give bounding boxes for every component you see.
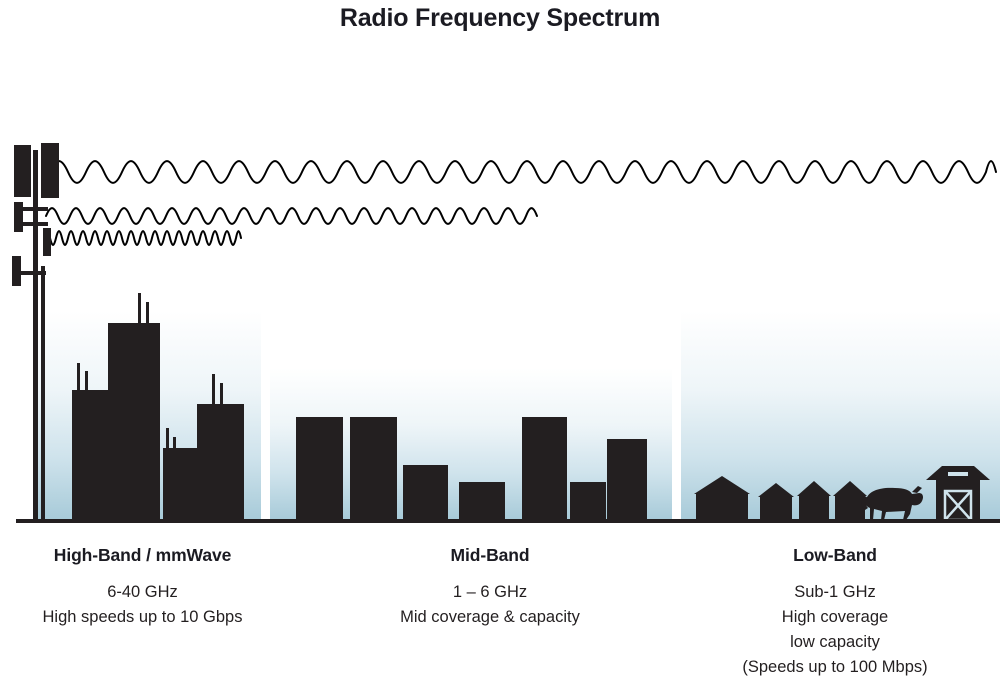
mid-building-1 — [296, 417, 343, 519]
band-detail-high-1: High speeds up to 10 Gbps — [0, 605, 285, 630]
barn-hayloft-window — [948, 472, 968, 476]
band-caption-mid: Mid-Band 1 – 6 GHz Mid coverage & capaci… — [340, 545, 640, 630]
radio-waves — [44, 161, 996, 245]
band-name-low: Low-Band — [690, 545, 980, 566]
tower-building-4-spire-0 — [212, 374, 215, 408]
tower-building-2 — [108, 293, 160, 519]
antenna-panel-mid-right — [43, 228, 51, 256]
barn-body — [936, 478, 980, 520]
wave-short-high-frequency — [44, 231, 241, 245]
band-detail-low-0: Sub-1 GHz — [690, 580, 980, 605]
mid-building-5 — [522, 417, 567, 519]
tower-mast-main — [33, 150, 38, 522]
mid-building-3 — [403, 465, 448, 519]
band-caption-high: High-Band / mmWave 6-40 GHz High speeds … — [0, 545, 285, 630]
mid-building-7 — [607, 439, 647, 519]
infographic-page: Radio Frequency Spectrum High-Band / mmW… — [0, 0, 1000, 700]
house-2-body — [760, 497, 792, 519]
band-detail-low-2: low capacity — [690, 630, 980, 655]
mid-building-4 — [459, 482, 505, 519]
antenna-panel-top-right — [41, 143, 59, 198]
house-4-body — [835, 496, 865, 519]
ground-baseline — [16, 519, 1000, 523]
antenna-panel-top-left — [14, 145, 31, 197]
band-detail-low-3: (Speeds up to 100 Mbps) — [690, 655, 980, 680]
tower-mast-second — [41, 266, 45, 522]
tower-building-1-spire-0 — [77, 363, 80, 394]
tower-building-2-spire-0 — [138, 293, 141, 327]
band-name-mid: Mid-Band — [340, 545, 640, 566]
band-detail-mid-0: 1 – 6 GHz — [340, 580, 640, 605]
mid-building-6 — [570, 482, 606, 519]
band-captions: High-Band / mmWave 6-40 GHz High speeds … — [0, 545, 1000, 700]
band-detail-high-0: 6-40 GHz — [0, 580, 285, 605]
tower-building-4-body — [197, 404, 244, 519]
house-3-body — [799, 496, 829, 519]
antenna-panel-mid-left — [14, 202, 23, 232]
band-detail-low-1: High coverage — [690, 605, 980, 630]
mid-building-2 — [350, 417, 397, 519]
ground-baseline — [16, 519, 1000, 523]
wave-medium-frequency — [46, 208, 537, 224]
band-name-high: High-Band / mmWave — [0, 545, 285, 566]
antenna-panel-low-left — [12, 256, 21, 286]
wave-long-low-frequency — [50, 161, 996, 183]
house-1-body — [696, 494, 748, 519]
band-detail-mid-1: Mid coverage & capacity — [340, 605, 640, 630]
tower-building-2-body — [108, 323, 160, 519]
band-caption-low: Low-Band Sub-1 GHz High coverage low cap… — [690, 545, 980, 680]
